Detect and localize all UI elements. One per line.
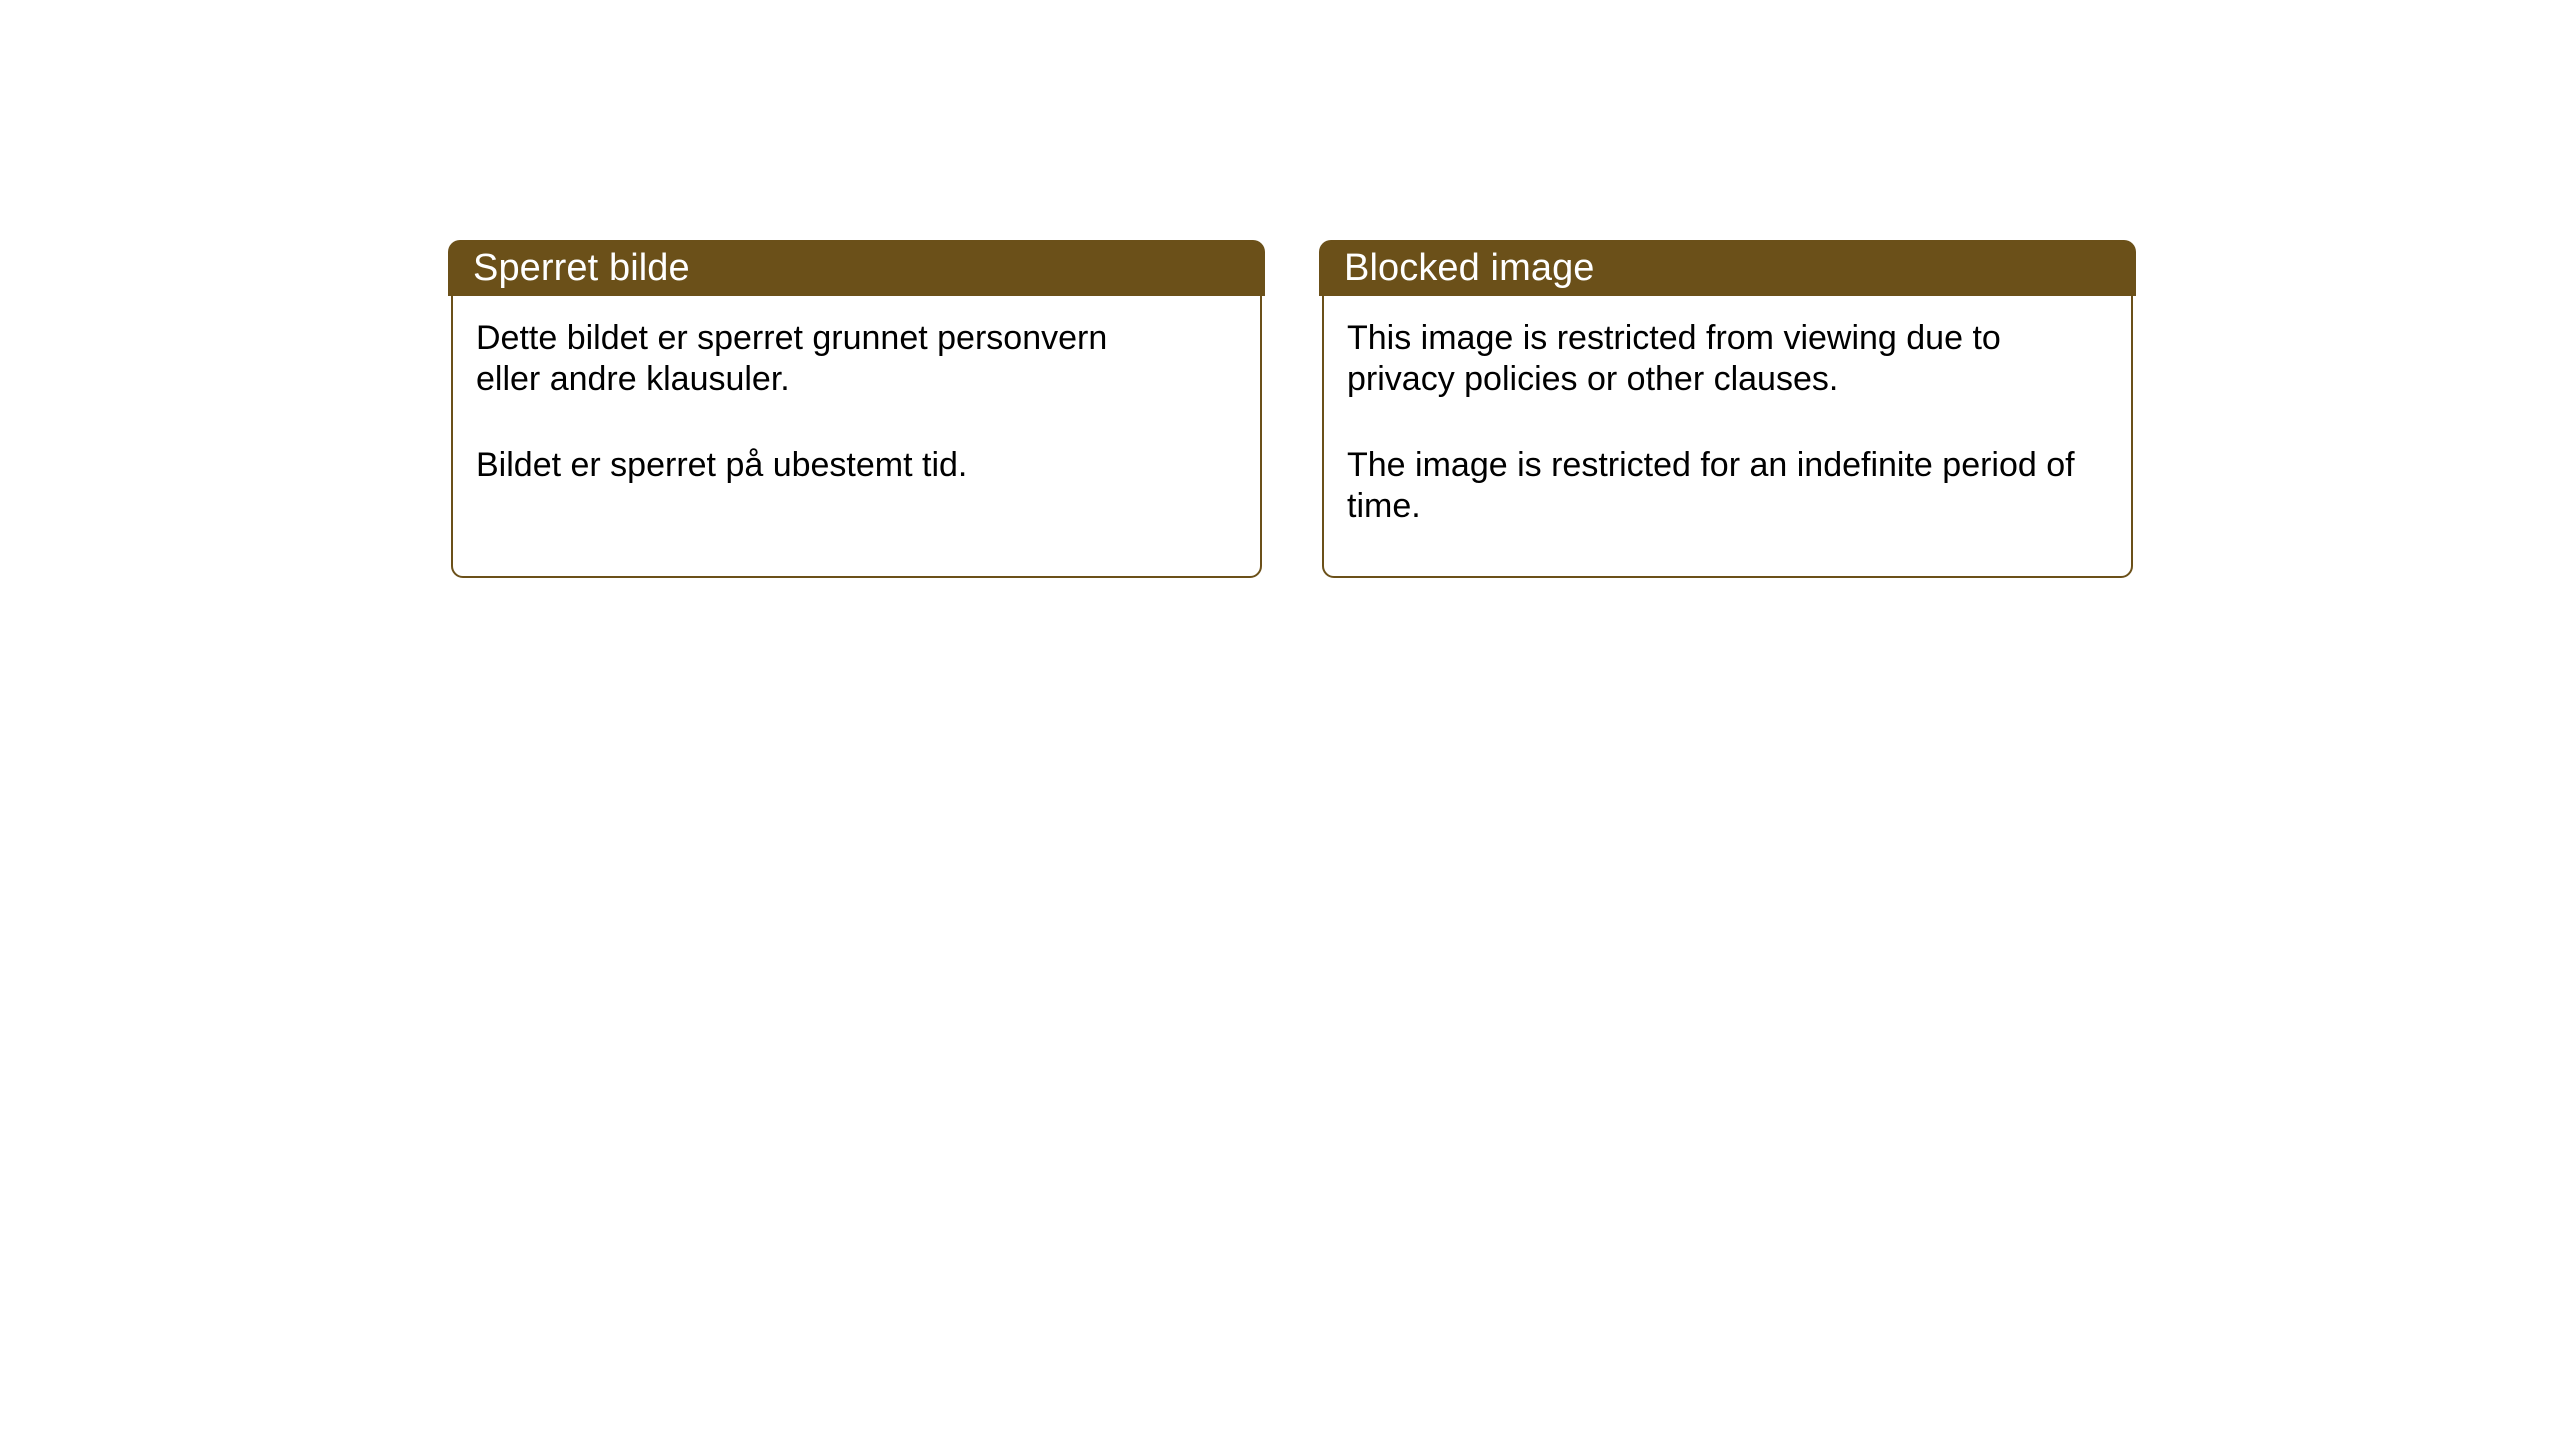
blocked-image-notice-card-norwegian: Sperret bilde Dette bildet er sperret gr…	[451, 240, 1262, 578]
card-header-english: Blocked image	[1319, 240, 2136, 296]
card-title-norwegian: Sperret bilde	[473, 249, 690, 287]
card-paragraph-primary-norwegian: Dette bildet er sperret grunnet personve…	[476, 318, 1176, 401]
card-title-english: Blocked image	[1344, 249, 1595, 287]
card-paragraph-secondary-norwegian: Bildet er sperret på ubestemt tid.	[476, 445, 1238, 486]
blocked-image-notice-card-english: Blocked image This image is restricted f…	[1322, 240, 2133, 578]
page-canvas: Sperret bilde Dette bildet er sperret gr…	[0, 0, 2560, 1440]
card-paragraph-primary-english: This image is restricted from viewing du…	[1347, 318, 2107, 401]
card-paragraph-secondary-english: The image is restricted for an indefinit…	[1347, 445, 2109, 528]
card-body-english: This image is restricted from viewing du…	[1322, 296, 2133, 578]
card-body-norwegian: Dette bildet er sperret grunnet personve…	[451, 296, 1262, 578]
card-header-norwegian: Sperret bilde	[448, 240, 1265, 296]
